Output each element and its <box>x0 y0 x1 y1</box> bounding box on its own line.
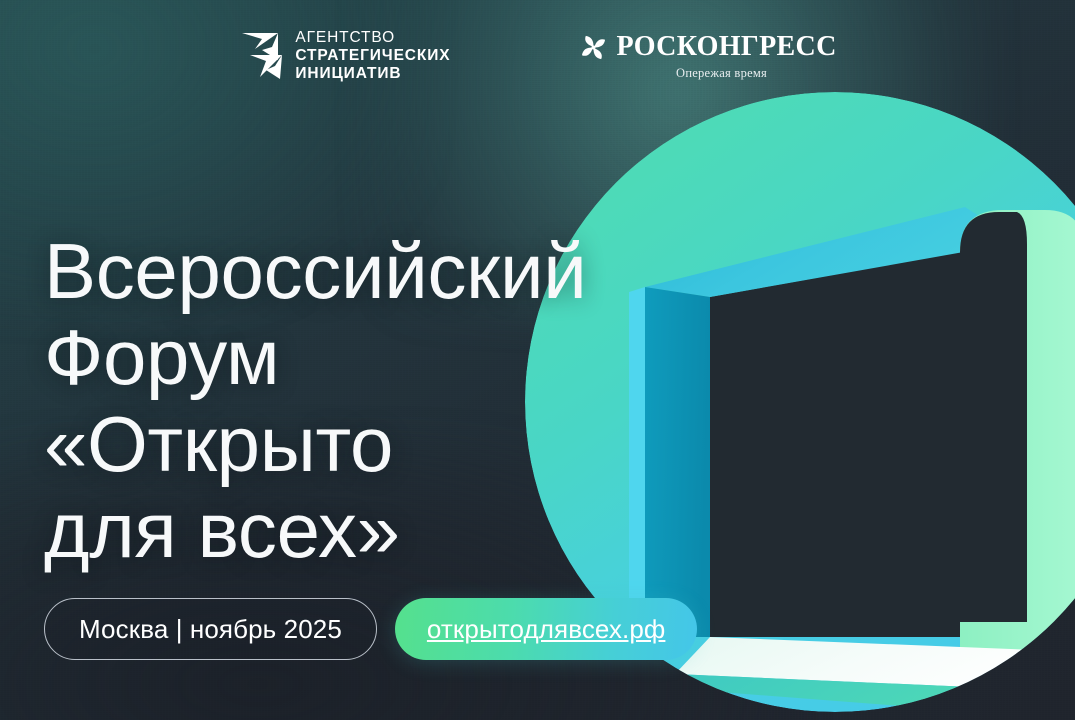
roscongress-lockup: РОСКОНГРЕСС <box>580 31 836 63</box>
website-badge[interactable]: открытодлявсех.рф <box>395 598 698 660</box>
page-title: Всероссийский Форум «Открыто для всех» <box>44 228 587 573</box>
asi-wordmark: АГЕНТСТВО СТРАТЕГИЧЕСКИХ ИНИЦИАТИВ <box>295 29 450 83</box>
logo-bar: АГЕНТСТВО СТРАТЕГИЧЕСКИХ ИНИЦИАТИВ РОСКО… <box>0 0 1075 112</box>
asi-double-arrow-icon <box>238 30 284 82</box>
roscongress-tagline: Опережая время <box>676 66 767 81</box>
logo-roscongress[interactable]: РОСКОНГРЕСС Опережая время <box>580 31 836 81</box>
roscongress-name: РОСКОНГРЕСС <box>616 31 836 63</box>
pinwheel-icon <box>580 34 607 61</box>
asi-line-2: СТРАТЕГИЧЕСКИХ <box>295 47 450 65</box>
badge-row: Москва | ноябрь 2025 открытодлявсех.рф <box>44 598 697 660</box>
logo-asi[interactable]: АГЕНТСТВО СТРАТЕГИЧЕСКИХ ИНИЦИАТИВ <box>238 29 450 83</box>
forum-promo-poster: АГЕНТСТВО СТРАТЕГИЧЕСКИХ ИНИЦИАТИВ РОСКО… <box>0 0 1075 720</box>
asi-line-1: АГЕНТСТВО <box>295 29 450 47</box>
place-date-badge: Москва | ноябрь 2025 <box>44 598 377 660</box>
asi-line-3: ИНИЦИАТИВ <box>295 65 450 83</box>
